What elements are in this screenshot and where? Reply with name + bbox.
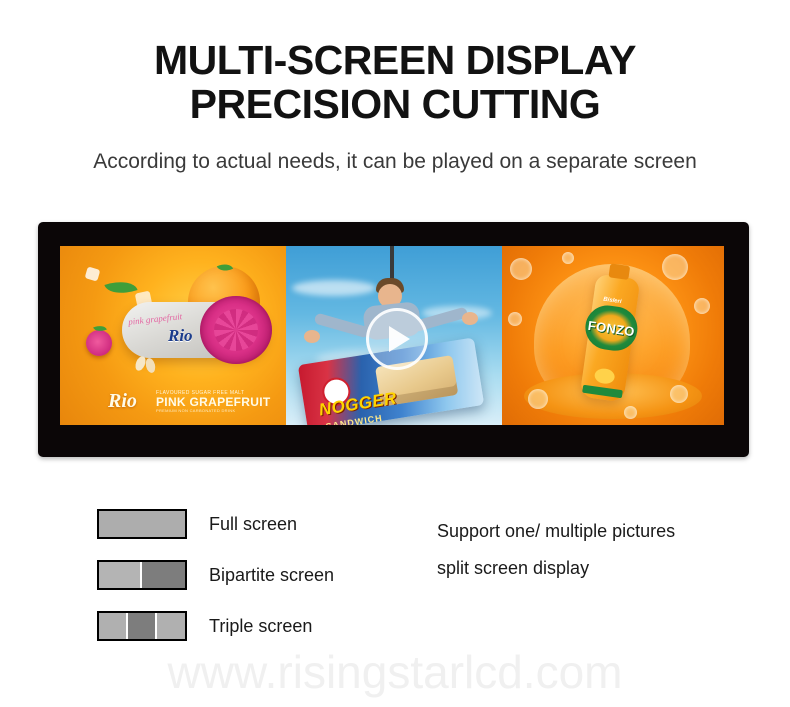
triple-screen-icon	[97, 611, 187, 641]
segment	[99, 511, 185, 537]
page-title-line-2: PRECISION CUTTING	[0, 82, 790, 126]
rio-brand-logo: Rio	[108, 390, 137, 413]
rio-caption-main: PINK GRAPEFRUIT	[156, 396, 271, 409]
rio-caption: FLAVOURED SUGAR FREE MALT PINK GRAPEFRUI…	[156, 391, 271, 413]
rio-caption-small: FLAVOURED SUGAR FREE MALT	[156, 391, 271, 396]
support-note-line-1: Support one/ multiple pictures	[437, 513, 757, 550]
full-screen-icon	[97, 509, 187, 539]
rio-caption-tiny: PREMIUM NON CARBONATED DRINK	[156, 409, 271, 413]
legend-label-bipartite-screen: Bipartite screen	[209, 565, 334, 586]
segment	[128, 613, 156, 639]
display-device-bezel: pink grapefruit Rio Rio FLAVOURED SUGAR …	[38, 222, 749, 457]
screen-panel-nogger[interactable]: NOGGER SANDWICH	[286, 246, 502, 425]
rio-can-logo: Rio	[168, 326, 193, 346]
legend-item-full-screen[interactable]: Full screen	[97, 506, 397, 542]
rio-can-script-text: pink grapefruit	[128, 311, 183, 327]
bubble-graphic	[510, 258, 532, 280]
legend-item-triple-screen[interactable]: Triple screen	[97, 608, 397, 644]
page-title: MULTI-SCREEN DISPLAY PRECISION CUTTING	[0, 0, 790, 126]
bubble-graphic	[670, 385, 688, 403]
support-note: Support one/ multiple pictures split scr…	[437, 513, 757, 587]
site-watermark: www.risingstarlcd.com	[0, 645, 790, 699]
legend-label-full-screen: Full screen	[209, 514, 297, 535]
bubble-graphic	[662, 254, 688, 280]
play-icon[interactable]	[366, 308, 428, 370]
segment	[142, 562, 185, 588]
split-mode-legend: Full screen Bipartite screen Triple scre…	[97, 506, 397, 644]
grapefruit-mascot-icon	[86, 330, 112, 356]
segment	[157, 613, 185, 639]
right-hand-graphic	[462, 312, 478, 325]
segment	[99, 562, 142, 588]
fonzo-brand-text: FONZO	[587, 317, 636, 338]
legend-label-triple-screen: Triple screen	[209, 616, 312, 637]
bubble-graphic	[508, 312, 522, 326]
bubble-graphic	[624, 406, 637, 419]
display-screen: pink grapefruit Rio Rio FLAVOURED SUGAR …	[60, 246, 724, 425]
page-subtitle: According to actual needs, it can be pla…	[0, 126, 790, 175]
screen-panel-rio[interactable]: pink grapefruit Rio Rio FLAVOURED SUGAR …	[60, 246, 286, 425]
support-note-line-2: split screen display	[437, 550, 757, 587]
bipartite-screen-icon	[97, 560, 187, 590]
rio-can-graphic: pink grapefruit Rio	[122, 302, 268, 358]
bubble-graphic	[528, 389, 548, 409]
bubble-graphic	[694, 298, 710, 314]
grapefruit-slice-graphic	[200, 296, 272, 364]
left-hand-graphic	[304, 330, 320, 343]
bottle-cap-graphic	[608, 263, 630, 280]
fonzo-brand-top-text: Bisleri	[603, 297, 622, 305]
play-triangle	[389, 326, 410, 352]
bottle-strip-graphic	[582, 385, 623, 398]
segment	[99, 613, 128, 639]
legend-item-bipartite-screen[interactable]: Bipartite screen	[97, 557, 397, 593]
page-title-line-1: MULTI-SCREEN DISPLAY	[0, 38, 790, 82]
mango-icon	[594, 367, 616, 385]
screen-panel-fonzo[interactable]: Bisleri FONZO	[502, 246, 724, 425]
bubble-graphic	[562, 252, 574, 264]
page-header: MULTI-SCREEN DISPLAY PRECISION CUTTING A…	[0, 0, 790, 175]
